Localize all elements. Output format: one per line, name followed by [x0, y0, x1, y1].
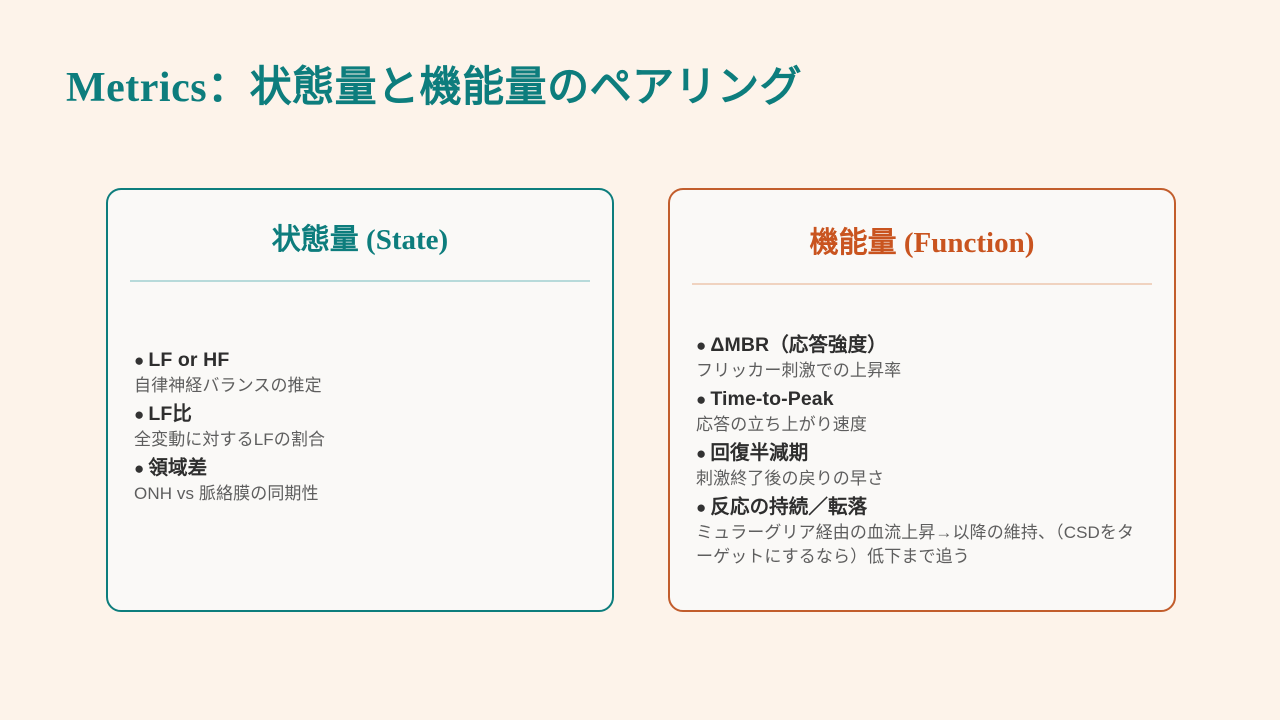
bullet-icon: ● — [134, 459, 144, 478]
metric-term: ●LF比 — [134, 400, 586, 428]
metric-term: ●回復半減期 — [696, 439, 1148, 467]
metric-term-label: ΔMBR（応答強度） — [710, 334, 886, 356]
metric-term-label: Time-to-Peak — [710, 388, 833, 410]
card-function-header: 機能量 (Function) — [670, 226, 1174, 261]
metric-term-label: LF or HF — [148, 349, 229, 371]
metric-term: ●反応の持続／転落 — [696, 493, 1148, 521]
card-state: 状態量 (State) ●LF or HF 自律神経バランスの推定 ●LF比 全… — [106, 188, 614, 612]
bullet-icon: ● — [696, 498, 706, 517]
card-state-header: 状態量 (State) — [108, 223, 612, 258]
metric-term-label: 反応の持続／転落 — [710, 496, 867, 518]
list-item: ●Time-to-Peak 応答の立ち上がり速度 — [696, 385, 1148, 438]
card-state-divider — [130, 280, 590, 282]
metric-term-label: LF比 — [148, 403, 192, 425]
metric-desc: 刺激終了後の戻りの早さ — [696, 467, 1148, 492]
list-item: ●反応の持続／転落 ミュラーグリア経由の血流上昇→以降の維持、（CSDをターゲッ… — [696, 493, 1148, 570]
metric-term: ●ΔMBR（応答強度） — [696, 331, 1148, 359]
list-item: ●回復半減期 刺激終了後の戻りの早さ — [696, 439, 1148, 492]
metric-term: ●領域差 — [134, 454, 586, 482]
bullet-icon: ● — [696, 336, 706, 355]
bullet-icon: ● — [696, 444, 706, 463]
list-item: ●LF比 全変動に対するLFの割合 — [134, 400, 586, 453]
metric-term: ●LF or HF — [134, 346, 586, 374]
list-item: ●領域差 ONH vs 脈絡膜の同期性 — [134, 454, 586, 507]
metric-desc: 応答の立ち上がり速度 — [696, 413, 1148, 438]
bullet-icon: ● — [134, 351, 144, 370]
metric-desc: フリッカー刺激での上昇率 — [696, 359, 1148, 384]
metric-term: ●Time-to-Peak — [696, 385, 1148, 413]
list-item: ●ΔMBR（応答強度） フリッカー刺激での上昇率 — [696, 331, 1148, 384]
card-function-divider — [692, 283, 1152, 285]
metric-desc: ONH vs 脈絡膜の同期性 — [134, 482, 586, 507]
metric-term-label: 回復半減期 — [710, 442, 808, 464]
bullet-icon: ● — [696, 390, 706, 409]
card-state-body: ●LF or HF 自律神経バランスの推定 ●LF比 全変動に対するLFの割合 … — [108, 346, 612, 507]
card-function-body: ●ΔMBR（応答強度） フリッカー刺激での上昇率 ●Time-to-Peak 応… — [670, 331, 1174, 569]
metric-term-label: 領域差 — [148, 457, 207, 479]
metric-desc: 全変動に対するLFの割合 — [134, 428, 586, 453]
list-item: ●LF or HF 自律神経バランスの推定 — [134, 346, 586, 399]
metric-desc: ミュラーグリア経由の血流上昇→以降の維持、（CSDをターゲットにするなら）低下ま… — [696, 521, 1148, 569]
bullet-icon: ● — [134, 405, 144, 424]
metric-desc: 自律神経バランスの推定 — [134, 374, 586, 399]
card-function: 機能量 (Function) ●ΔMBR（応答強度） フリッカー刺激での上昇率 … — [668, 188, 1176, 612]
page-title: Metrics：状態量と機能量のペアリング — [66, 62, 802, 115]
